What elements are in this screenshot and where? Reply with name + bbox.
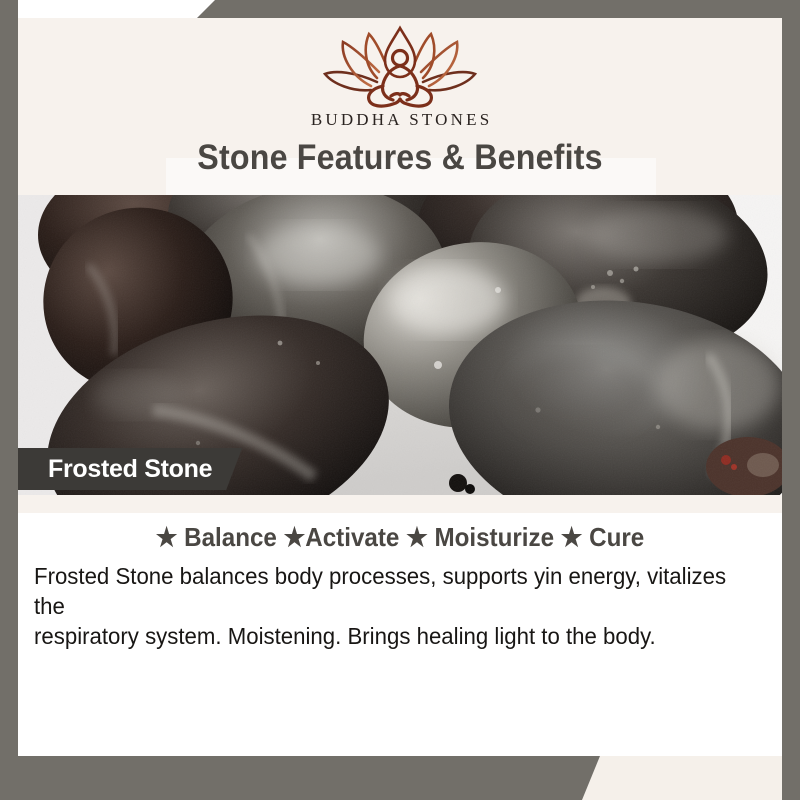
frame-left-bar: [0, 0, 18, 782]
benefits-line: ★ Balance ★Activate ★ Moisturize ★ Cure: [45, 522, 756, 553]
description-line-1: Frosted Stone balances body processes, s…: [34, 561, 728, 621]
poster-root: BUDDHA STONES Stone Features & Benefits: [0, 0, 800, 800]
page-title: Stone Features & Benefits: [49, 138, 752, 178]
frame-right-bar: [782, 18, 800, 800]
description-line-2: respiratory system. Moistening. Brings h…: [34, 621, 728, 651]
brand-name: BUDDHA STONES: [18, 110, 782, 130]
description-text: Frosted Stone balances body processes, s…: [34, 561, 728, 651]
content-top-cream-strip: [18, 495, 782, 513]
lotus-meditation-icon: [315, 22, 485, 108]
frame-top-bar: [0, 0, 800, 18]
brand-logo: BUDDHA STONES: [18, 22, 782, 130]
photo-caption-badge: Frosted Stone: [18, 448, 242, 490]
